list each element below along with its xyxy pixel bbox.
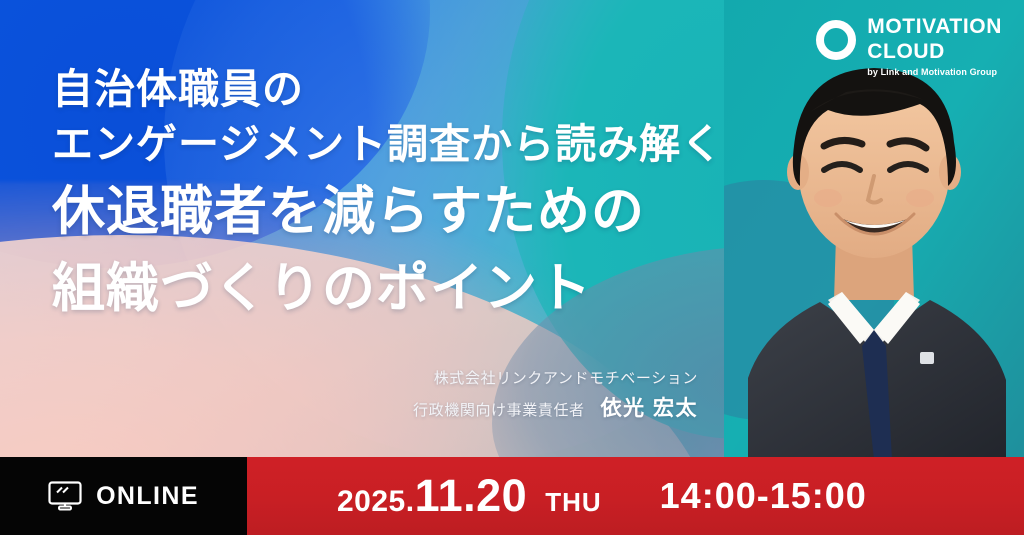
online-label: ONLINE bbox=[96, 482, 199, 511]
headline-block: 自治体職員の エンゲージメント調査から読み解く 休退職者を減らすための 組織づく… bbox=[52, 62, 752, 324]
headline-line-3: 休退職者を減らすための bbox=[52, 177, 752, 247]
monitor-icon bbox=[48, 481, 82, 511]
date-day-of-week: THU bbox=[545, 487, 601, 518]
speaker-role-name-row: 行政機関向け事業責任者 依光 宏太 bbox=[378, 393, 698, 425]
logo-circle-icon bbox=[816, 20, 856, 60]
logo-tagline: by Link and Motivation Group bbox=[867, 68, 1002, 77]
headline-line-4: 組織づくりのポイント bbox=[52, 254, 752, 324]
headline-line-1: 自治体職員の bbox=[52, 62, 752, 117]
speaker-company: 株式会社リンクアンドモチベーション bbox=[378, 368, 698, 391]
speaker-role: 行政機関向け事業責任者 bbox=[413, 400, 585, 423]
logo-wordmark: MOTIVATION CLOUD by Link and Motivation … bbox=[867, 16, 1002, 77]
online-badge: ONLINE bbox=[0, 457, 247, 535]
headline-line-2: エンゲージメント調査から読み解く bbox=[52, 117, 752, 172]
webinar-banner: MOTIVATION CLOUD by Link and Motivation … bbox=[0, 0, 1024, 535]
logo-line-2: CLOUD bbox=[867, 41, 1002, 62]
date-year: 2025. bbox=[337, 485, 415, 519]
speaker-name: 依光 宏太 bbox=[601, 393, 698, 425]
event-time: 14:00-15:00 bbox=[660, 475, 867, 517]
bottom-bar: ONLINE 2025. 11.20 THU 14:00-15:00 bbox=[0, 457, 1024, 535]
date-group: 2025. 11.20 THU bbox=[337, 473, 602, 519]
speaker-credit: 株式会社リンクアンドモチベーション 行政機関向け事業責任者 依光 宏太 bbox=[378, 368, 698, 424]
logo-line-1: MOTIVATION bbox=[867, 16, 1002, 37]
date-time-panel: 2025. 11.20 THU 14:00-15:00 bbox=[247, 457, 1024, 535]
motivation-cloud-logo: MOTIVATION CLOUD by Link and Motivation … bbox=[816, 16, 1002, 77]
date-day: 11.20 bbox=[415, 473, 528, 518]
